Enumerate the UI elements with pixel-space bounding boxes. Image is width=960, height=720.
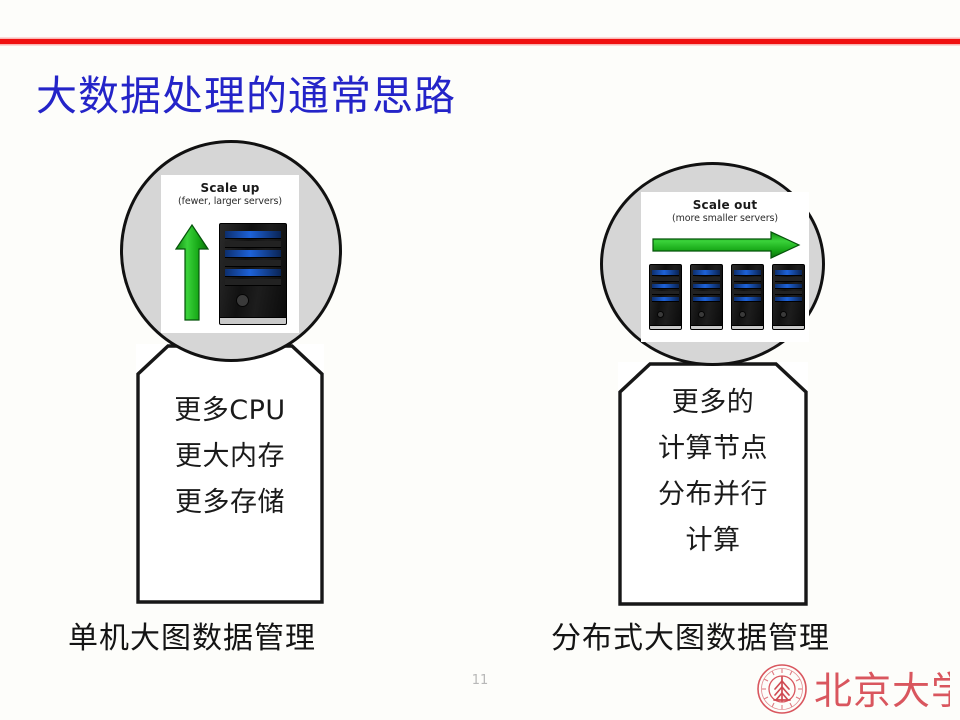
scale-up-subtitle: (fewer, larger servers): [161, 196, 299, 207]
scale-out-callout: 更多的 计算节点 分布并行 计算: [618, 362, 808, 606]
callout-line: 更大内存: [136, 434, 324, 480]
arrow-right-icon: [651, 231, 801, 259]
scale-out-title: Scale out: [641, 198, 809, 212]
callout-line: 计算: [618, 518, 808, 564]
server-tower: [772, 264, 805, 330]
scale-out-bubble: Scale out (more smaller servers): [600, 162, 825, 366]
pku-wordmark-text: 北京大学: [814, 669, 950, 713]
server-tower: [219, 223, 287, 325]
server-tower: [690, 264, 723, 330]
server-tower: [649, 264, 682, 330]
page-title: 大数据处理的通常思路: [36, 72, 456, 120]
callout-line: 分布并行: [618, 472, 808, 518]
scale-out-subtitle: (more smaller servers): [641, 213, 809, 224]
callout-line: 更多CPU: [136, 388, 324, 434]
callout-line: 更多存储: [136, 480, 324, 526]
scale-out-diagram: Scale out (more smaller servers): [641, 192, 809, 342]
scale-up-diagram: Scale up (fewer, larger servers): [161, 175, 299, 333]
peking-university-logo: 北京大学: [752, 660, 952, 718]
scale-up-bubble: Scale up (fewer, larger servers): [120, 140, 342, 362]
callout-line: 计算节点: [618, 426, 808, 472]
scale-up-callout: 更多CPU 更大内存 更多存储: [136, 344, 324, 604]
callout-line: 更多的: [618, 380, 808, 426]
scale-up-title: Scale up: [161, 181, 299, 195]
pku-wordmark: 北京大学: [814, 660, 950, 718]
server-tower: [731, 264, 764, 330]
right-caption: 分布式大图数据管理: [551, 613, 830, 657]
scale-out-callout-text: 更多的 计算节点 分布并行 计算: [618, 380, 808, 564]
pku-seal-icon: [756, 663, 808, 715]
arrow-up-icon: [175, 223, 209, 323]
header-rule: [0, 39, 960, 44]
left-caption: 单机大图数据管理: [68, 613, 316, 657]
scale-up-callout-text: 更多CPU 更大内存 更多存储: [136, 388, 324, 526]
